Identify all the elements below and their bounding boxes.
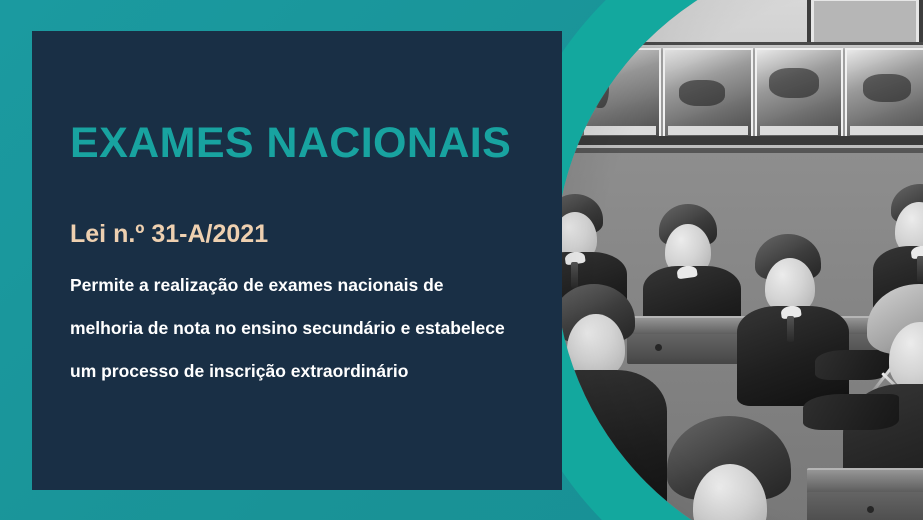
law-reference: Lei n.º 31-A/2021	[70, 220, 268, 249]
classroom-photo	[555, 0, 923, 520]
content-panel: EXAMES NACIONAIS Lei n.º 31-A/2021 Permi…	[32, 31, 562, 490]
slide-canvas: EXAMES NACIONAIS Lei n.º 31-A/2021 Permi…	[0, 0, 923, 520]
classroom-photo-image	[555, 0, 923, 520]
page-title: EXAMES NACIONAIS	[70, 119, 511, 168]
description-text: Permite a realização de exames nacionais…	[70, 264, 510, 393]
photo-vignette	[555, 0, 923, 520]
